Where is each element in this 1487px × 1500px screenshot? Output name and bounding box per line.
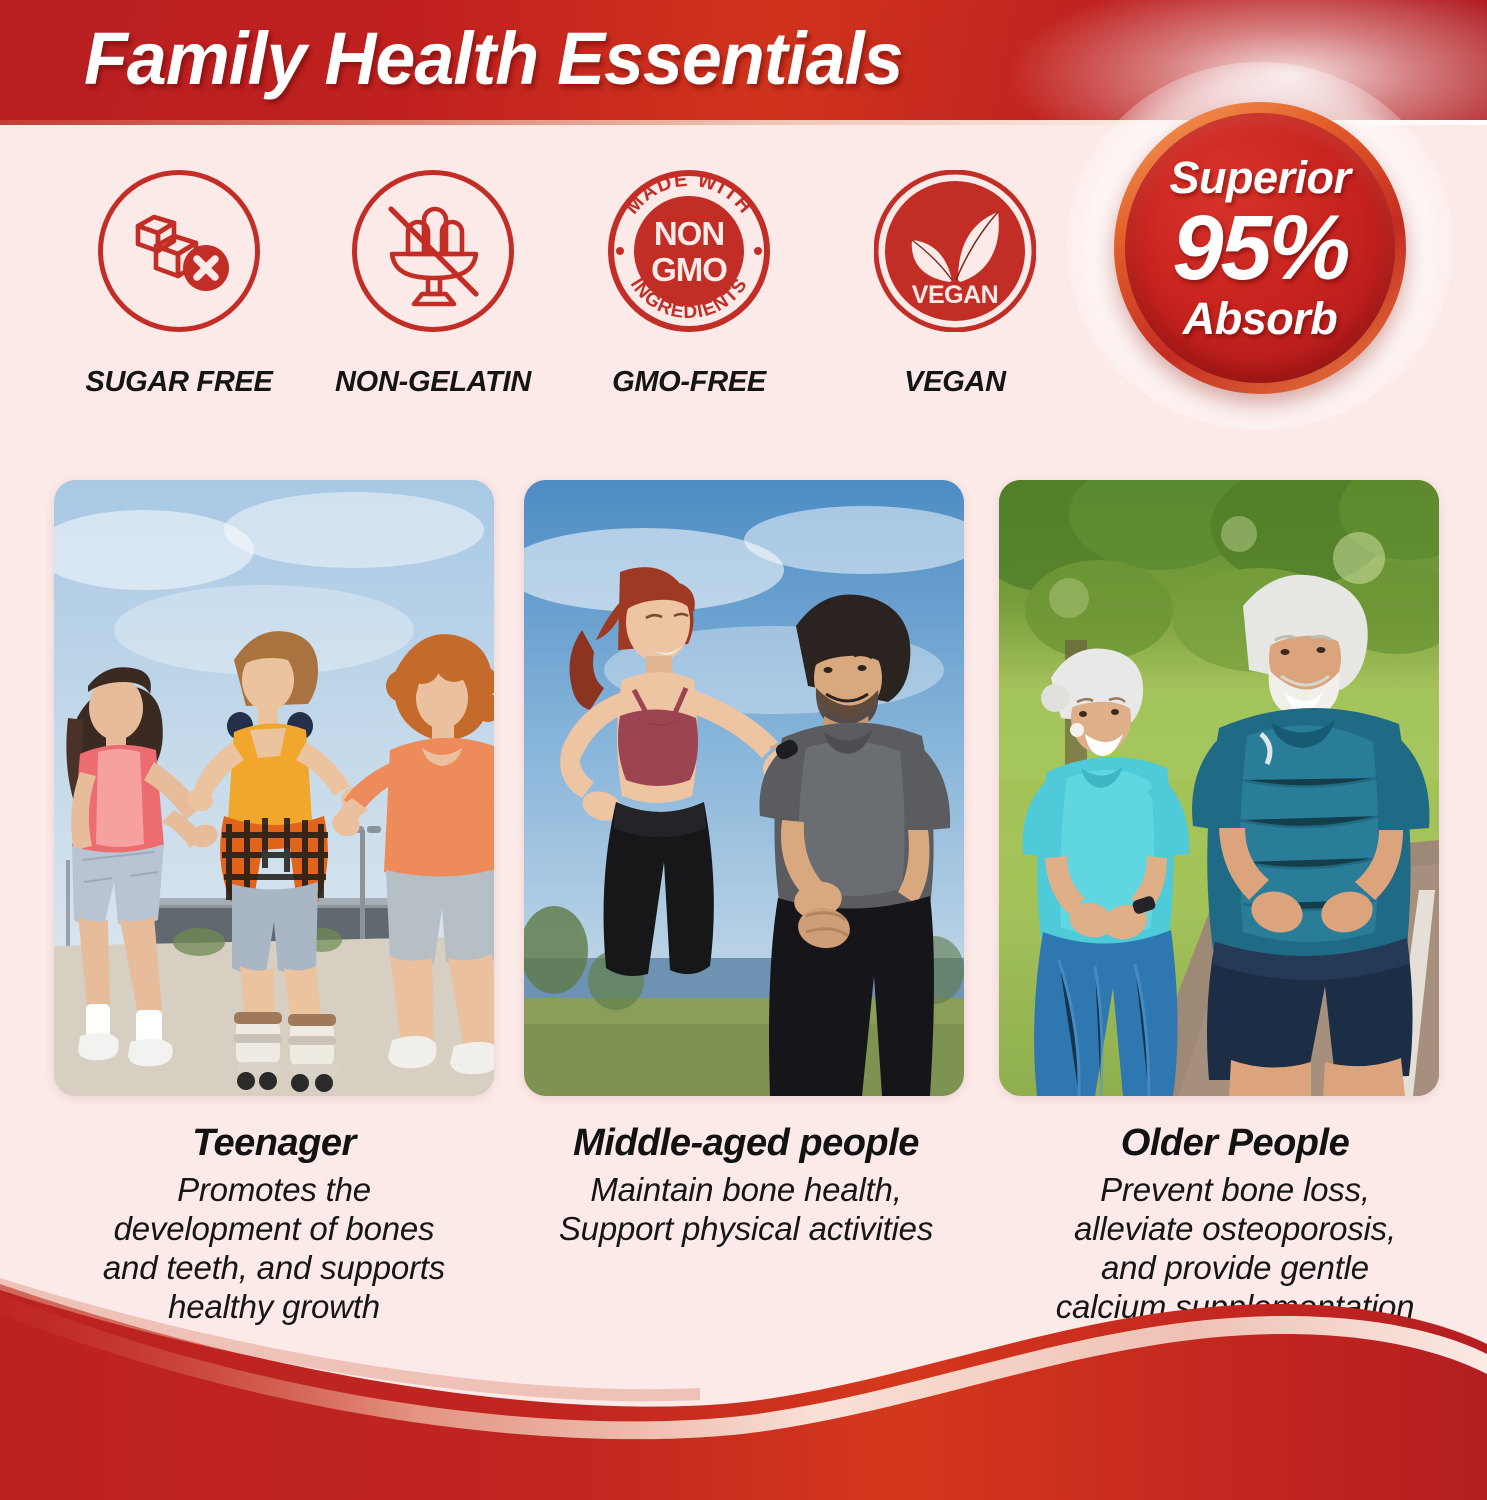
page-title: Family Health Essentials	[84, 16, 902, 101]
card-teenager	[54, 480, 494, 1096]
caption-middle-aged: Middle-aged people Maintain bone health,…	[506, 1122, 986, 1249]
absorption-seal: Superior 95% Absorb	[1100, 96, 1420, 396]
badge-outline-circle	[98, 170, 260, 332]
svg-text:GMO: GMO	[651, 251, 727, 288]
card-middle-aged	[524, 480, 964, 1096]
seal-percent-value: 95%	[1172, 202, 1347, 294]
photo-senior-couple-jogging	[999, 480, 1439, 1096]
caption-title: Older People	[996, 1122, 1474, 1165]
badge-sugar-free	[98, 170, 260, 332]
card-older-people	[999, 480, 1439, 1096]
non-gmo-seal-icon: MADE WITH INGREDIENTS NON GMO	[608, 170, 770, 332]
bottom-wave-decoration	[0, 1270, 1487, 1500]
caption-title: Teenager	[44, 1122, 504, 1165]
badge-label-gmo-free: GMO-FREE	[612, 366, 766, 399]
seal-text-group: Superior 95% Absorb	[1125, 113, 1395, 383]
vegan-leaf-icon: VEGAN	[874, 170, 1036, 332]
caption-body: Maintain bone health, Support physical a…	[506, 1171, 986, 1249]
certification-badge-row: SUGAR FREE NON-GELATIN	[0, 170, 1080, 440]
badge-label-sugar-free: SUGAR FREE	[85, 366, 272, 399]
badge-vegan: VEGAN	[874, 170, 1036, 332]
infographic-page: Family Health Essentials	[0, 0, 1487, 1500]
badge-label-vegan: VEGAN	[904, 366, 1006, 399]
caption-title: Middle-aged people	[506, 1122, 986, 1165]
svg-text:NON: NON	[654, 215, 724, 252]
seal-superior-label: Superior	[1169, 155, 1350, 200]
photo-middle-aged-couple	[524, 480, 964, 1096]
badge-gmo-free: MADE WITH INGREDIENTS NON GMO	[608, 170, 770, 332]
photo-teenagers	[54, 480, 494, 1096]
seal-absorb-label: Absorb	[1183, 296, 1338, 341]
badge-non-gelatin	[352, 170, 514, 332]
badge-outline-circle	[352, 170, 514, 332]
svg-text:VEGAN: VEGAN	[912, 281, 998, 309]
badge-label-non-gelatin: NON-GELATIN	[335, 366, 531, 399]
